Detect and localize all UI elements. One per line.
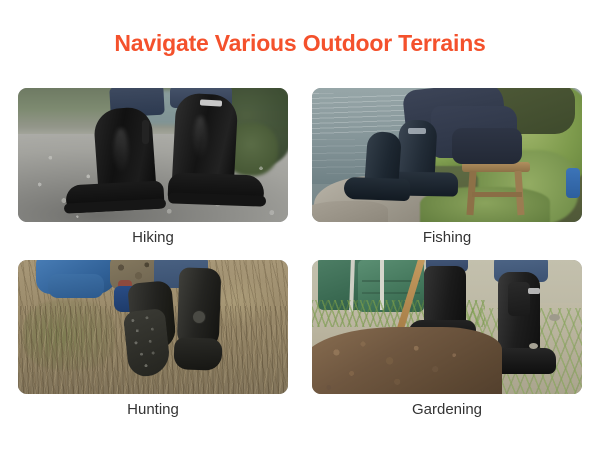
fishing-photo[interactable] [312,88,582,222]
hiking-boot-logo [200,99,222,106]
gallery-caption-hiking: Hiking [18,222,288,246]
fishing-stool-crossbar [472,192,522,197]
gallery-item-hunting[interactable]: Hunting [18,260,288,418]
fishing-boot-left-foot [344,177,411,201]
gardening-photo[interactable] [312,260,582,394]
hunting-blue-pack-panel [48,274,104,298]
hunting-photo[interactable] [18,260,288,394]
hiking-boot-left-highlight [114,128,128,174]
gallery-item-gardening[interactable]: Gardening [312,260,582,418]
gallery-caption-fishing: Fishing [312,222,582,246]
hiking-photo[interactable] [18,88,288,222]
hiking-boot-right-highlight [194,116,207,160]
gallery-item-fishing[interactable]: Fishing [312,88,582,246]
gallery-caption-gardening: Gardening [312,394,582,418]
fishing-trouser-rear [452,128,522,164]
gardening-boot-right-panel [508,282,530,316]
gallery-caption-hunting: Hunting [18,394,288,418]
hiking-boot-pull-strap [142,120,149,144]
gardening-boot-tag [528,288,540,294]
gardening-soil-clods [312,330,496,394]
gardening-stone-one [549,314,560,321]
promo-banner: Navigate Various Outdoor Terrains [0,0,600,450]
gallery-item-hiking[interactable]: Hiking [18,88,288,246]
hunting-boot-right-foot [173,337,222,371]
fishing-blue-bottle [566,168,580,198]
terrain-gallery-grid: Hiking [18,88,582,419]
fishing-shore-rock-lower [312,201,388,222]
fishing-boot-logo [408,128,426,134]
page-title: Navigate Various Outdoor Terrains [0,30,600,57]
